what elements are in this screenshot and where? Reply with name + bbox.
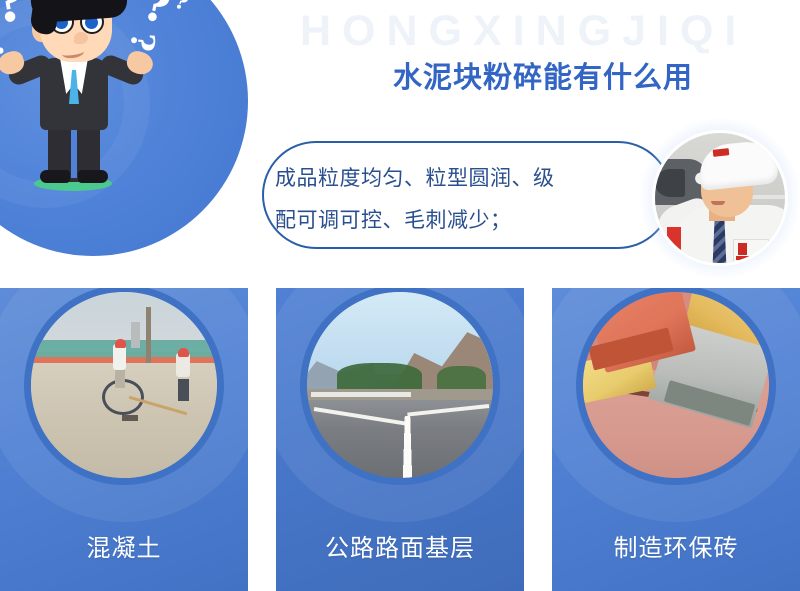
rake-head — [122, 415, 138, 421]
mascot-circle: ? ? ? ? ? ? — [0, 0, 248, 256]
application-card-concrete[interactable]: 混凝土 — [0, 288, 248, 591]
page-title: 水泥块粉碎能有什么用 — [393, 54, 693, 96]
mascot-nose — [74, 32, 88, 44]
worker-2-legs — [178, 379, 189, 401]
worker-2-body — [176, 353, 190, 377]
worker-1-body — [113, 344, 126, 370]
panel-label-road-base: 公路路面基层 — [276, 528, 524, 563]
photo-ring — [24, 288, 224, 485]
engineer-company-badge — [733, 239, 769, 263]
worker-2-helmet — [178, 348, 189, 357]
worker-1-legs — [115, 368, 125, 388]
bubble-line-1: 成品粒度均匀、粒型圆润、级 — [275, 158, 635, 200]
distant-tower — [131, 322, 140, 348]
photo-ring — [300, 288, 500, 485]
paving-bricks-photo — [583, 292, 769, 478]
mascot-leg-gap — [71, 126, 77, 178]
panel-label-eco-brick: 制造环保砖 — [552, 528, 800, 563]
watermark-text: HONGXINGJIQI — [300, 6, 800, 56]
highway-photo — [307, 292, 493, 478]
mascot-businessman-illustration — [0, 0, 156, 198]
guardrail — [311, 392, 411, 397]
mascot-shoe-left — [40, 170, 70, 183]
mascot-hair — [28, 0, 128, 23]
promo-banner: HONGXINGJIQI ? ? ? ? ? ? — [0, 0, 800, 591]
panel-label-concrete: 混凝土 — [0, 528, 248, 563]
machine-detail — [655, 169, 685, 197]
question-mark-icon: ? — [172, 0, 192, 15]
photo-ring — [576, 288, 776, 485]
concrete-photo — [31, 292, 217, 478]
engineer-mouth — [711, 201, 725, 205]
mascot-shoe-right — [78, 170, 108, 183]
engineer-red-patch — [667, 227, 681, 253]
bubble-text: 成品粒度均匀、粒型圆润、级 配可调可控、毛刺减少； — [275, 158, 635, 242]
engineer-portrait-photo — [652, 130, 788, 266]
application-card-eco-brick[interactable]: 制造环保砖 — [552, 288, 800, 591]
application-card-road-base[interactable]: 公路路面基层 — [276, 288, 524, 591]
worker-1-helmet — [115, 339, 126, 348]
bubble-line-2: 配可调可控、毛刺减少； — [275, 200, 635, 242]
top-section: HONGXINGJIQI ? ? ? ? ? ? — [0, 0, 800, 288]
